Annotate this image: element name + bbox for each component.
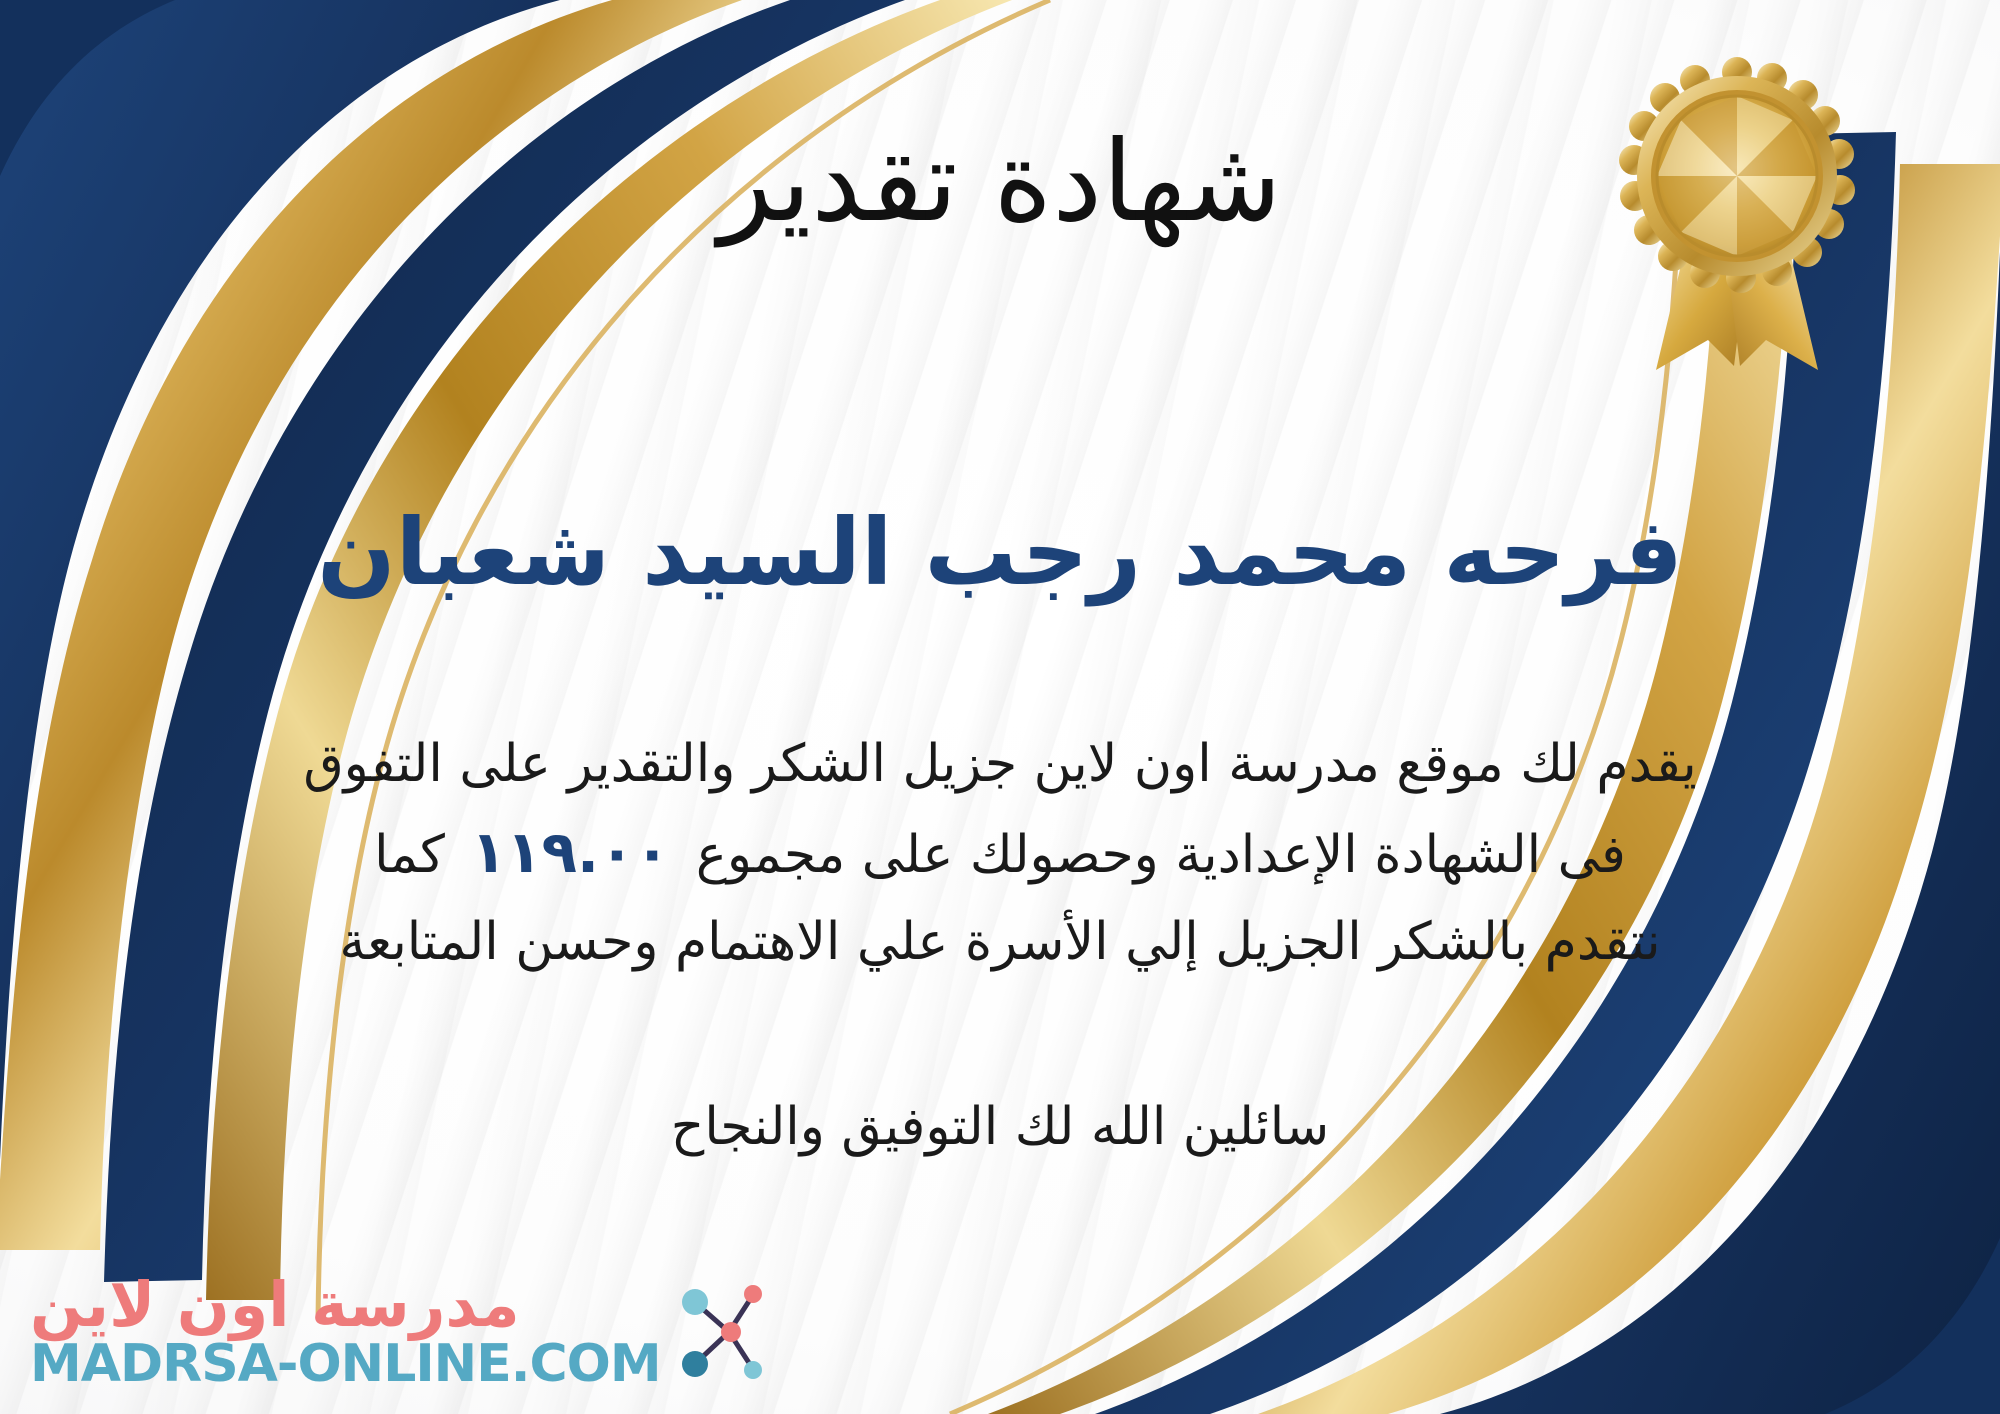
recipient-name: فرحه محمد رجب السيد شعبان: [0, 498, 2000, 608]
body-line-2-text-before: فى الشهادة الإعدادية وحصولك على مجموع: [696, 825, 1626, 885]
network-nodes-icon: [671, 1278, 763, 1386]
award-rosette-icon: [1612, 48, 1862, 378]
body-line-2: فى الشهادة الإعدادية وحصولك على مجموع١١٩…: [60, 806, 1940, 900]
brand-logo-texts: مدرسة اون لاين MADRSA-ONLINE.COM: [30, 1272, 661, 1392]
rosette-scallop-ring: [1619, 57, 1855, 293]
body-line-2-text-after: كما: [374, 825, 445, 885]
brand-arabic-name: مدرسة اون لاين: [30, 1272, 520, 1337]
closing-wish: سائلين الله لك التوفيق والنجاح: [0, 1088, 2000, 1166]
body-line-1: يقدم لك موقع مدرسة اون لاين جزيل الشكر و…: [60, 722, 1940, 806]
body-line-3: نتقدم بالشكر الجزيل إلي الأسرة علي الاهت…: [60, 900, 1940, 984]
certificate-canvas: شهادة تقدير فرحه محمد رجب السيد شعبان يق…: [0, 0, 2000, 1414]
certificate-body: يقدم لك موقع مدرسة اون لاين جزيل الشكر و…: [60, 722, 1940, 984]
brand-website-url: MADRSA-ONLINE.COM: [30, 1337, 661, 1392]
grade-value: ١١٩.٠٠: [445, 818, 696, 886]
brand-logo[interactable]: مدرسة اون لاين MADRSA-ONLINE.COM: [30, 1272, 763, 1392]
